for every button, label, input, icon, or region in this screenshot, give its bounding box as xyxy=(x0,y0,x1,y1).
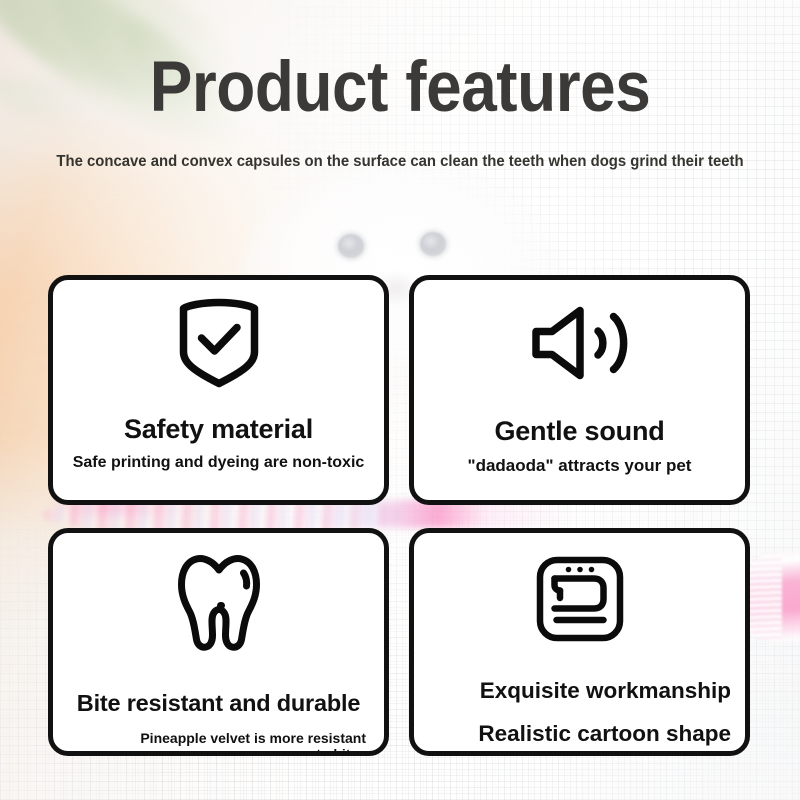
speaker-sound-icon xyxy=(528,304,632,387)
feature-card-title: Safety material xyxy=(53,414,384,445)
feature-card-subtitle: Pineapple velvet is more resistant to bi… xyxy=(134,730,366,756)
feature-card-title: Gentle sound xyxy=(414,416,745,447)
feature-card-safety-material: Safety material Safe printing and dyeing… xyxy=(48,275,389,505)
shield-check-icon xyxy=(176,297,262,394)
product-features-graphic: Product features The concave and convex … xyxy=(0,0,800,800)
feature-card-gentle-sound: Gentle sound "dadaoda" attracts your pet xyxy=(409,275,750,505)
page-title: Product features xyxy=(40,52,760,124)
header-block: Product features The concave and convex … xyxy=(0,52,800,171)
feature-card-title: Bite resistant and durable xyxy=(71,690,366,717)
feature-card-grid: Safety material Safe printing and dyeing… xyxy=(48,275,750,756)
sewing-machine-icon xyxy=(534,555,626,648)
feature-card-workmanship: Exquisite workmanship Realistic cartoon … xyxy=(409,528,750,756)
tooth-icon xyxy=(175,553,263,658)
feature-card-bite-resistant: Bite resistant and durable Pineapple vel… xyxy=(48,528,389,756)
feature-card-subtitle: Safe printing and dyeing are non-toxic xyxy=(53,454,384,472)
feature-card-line-2: Realistic cartoon shape xyxy=(414,721,731,747)
feature-card-subtitle: "dadaoda" attracts your pet xyxy=(414,456,745,476)
page-subtitle: The concave and convex capsules on the s… xyxy=(16,153,784,171)
feature-card-line-1: Exquisite workmanship xyxy=(414,678,731,704)
